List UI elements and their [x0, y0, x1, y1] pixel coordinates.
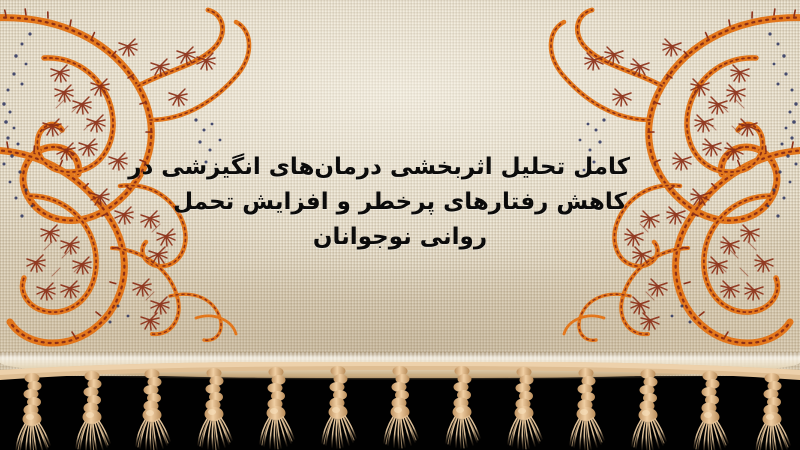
tassel-fringe — [0, 362, 800, 450]
title-card: کامل تحلیل اثربخشی درمان‌های انگیزشی در … — [0, 0, 800, 450]
title-line-3: روانی نوجوانان — [170, 220, 630, 255]
title-line-2: کاهش رفتارهای پرخطر و افزایش تحمل — [170, 185, 630, 220]
page-title: کامل تحلیل اثربخشی درمان‌های انگیزشی در … — [170, 150, 630, 255]
title-line-1: کامل تحلیل اثربخشی درمان‌های انگیزشی در — [170, 150, 630, 185]
